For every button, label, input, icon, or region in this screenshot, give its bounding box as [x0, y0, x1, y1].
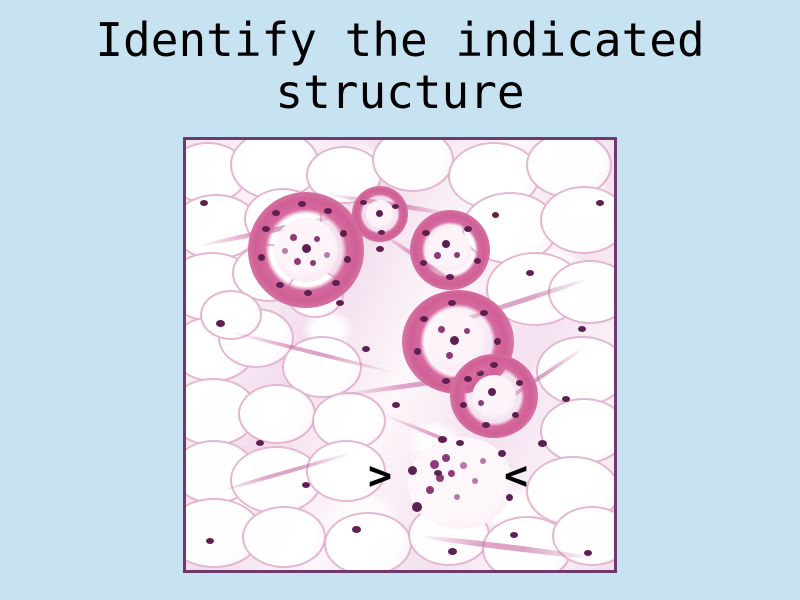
- nucleus: [302, 244, 311, 253]
- left-arrowhead-marker: >: [368, 456, 392, 496]
- nucleus: [488, 388, 496, 396]
- nucleus: [478, 400, 484, 406]
- nucleus: [340, 230, 347, 237]
- nucleus: [344, 256, 351, 263]
- nucleus: [464, 226, 472, 232]
- nucleus: [464, 376, 472, 382]
- slide-canvas: Identify the indicated structure: [0, 0, 800, 600]
- nucleus: [408, 466, 417, 475]
- nucleus: [464, 328, 470, 334]
- adipocyte: [238, 384, 316, 444]
- histology-image: [186, 140, 614, 570]
- nucleus: [446, 352, 453, 359]
- nucleus: [442, 240, 450, 248]
- nucleus: [294, 258, 301, 265]
- nucleus: [376, 246, 384, 252]
- nucleus: [392, 402, 400, 408]
- nucleus: [302, 482, 310, 488]
- nucleus: [272, 210, 280, 216]
- blood-cell: [454, 494, 460, 500]
- adipocyte: [242, 506, 326, 568]
- blood-cell: [448, 470, 455, 477]
- nucleus: [376, 210, 383, 217]
- nucleus: [412, 502, 422, 512]
- right-arrowhead-marker: <: [504, 456, 528, 496]
- nucleus: [360, 200, 367, 205]
- nucleus: [310, 260, 316, 266]
- nucleus: [200, 200, 208, 206]
- nucleus: [414, 348, 421, 355]
- blood-cell: [480, 458, 486, 464]
- nucleus: [262, 226, 270, 232]
- blood-cell: [472, 478, 478, 484]
- nucleus: [256, 440, 264, 446]
- nucleus: [492, 212, 499, 218]
- nucleus: [448, 300, 456, 306]
- nucleus: [450, 336, 459, 345]
- nucleus: [282, 248, 288, 254]
- nucleus: [480, 310, 488, 316]
- nucleus: [422, 230, 430, 236]
- nucleus: [332, 280, 340, 286]
- blood-cell: [460, 462, 467, 469]
- nucleus: [562, 396, 570, 402]
- nucleus: [526, 270, 534, 276]
- nucleus: [474, 258, 481, 264]
- arteriole-small-top: [352, 186, 408, 242]
- nucleus: [290, 234, 297, 241]
- nucleus: [434, 252, 441, 259]
- blood-cell: [426, 486, 434, 494]
- adipocyte: [540, 398, 614, 464]
- adipocyte: [372, 140, 454, 192]
- nucleus: [420, 316, 428, 322]
- nucleus: [352, 526, 361, 533]
- adipocyte: [324, 512, 412, 570]
- nucleus: [442, 378, 450, 384]
- nucleus: [438, 326, 445, 333]
- nucleus: [258, 254, 265, 261]
- nucleus: [510, 532, 518, 538]
- nucleus: [448, 548, 457, 555]
- nucleus: [490, 362, 498, 368]
- nucleus: [512, 412, 519, 418]
- nucleus: [538, 440, 547, 447]
- nucleus: [362, 346, 370, 352]
- nucleus: [324, 208, 332, 214]
- nucleus: [596, 200, 604, 206]
- vessel-lumen: [429, 229, 471, 271]
- nucleus: [456, 440, 464, 446]
- nucleus: [434, 470, 442, 476]
- nucleus: [482, 422, 490, 428]
- nucleus: [392, 204, 399, 209]
- blood-cell: [430, 460, 439, 469]
- vessel-lumen: [408, 437, 512, 529]
- nucleus: [578, 326, 586, 332]
- nucleus: [304, 290, 312, 296]
- nucleus: [314, 236, 320, 242]
- blood-cell: [442, 454, 450, 462]
- nucleus: [298, 201, 306, 207]
- arteriole-mid-right: [410, 210, 490, 290]
- nucleus: [438, 436, 447, 443]
- arteriole-large: [248, 192, 364, 308]
- nucleus: [324, 252, 330, 258]
- nucleus: [454, 252, 460, 258]
- page-title: Identify the indicated structure: [0, 14, 800, 118]
- nucleus: [446, 274, 454, 280]
- nucleus: [336, 300, 344, 306]
- nucleus: [420, 260, 427, 266]
- nucleus: [516, 380, 523, 386]
- nucleus: [216, 320, 225, 327]
- micrograph-frame: [183, 137, 617, 573]
- nucleus: [584, 550, 592, 556]
- arteriole-lower: [450, 354, 538, 438]
- nucleus: [276, 282, 284, 288]
- nucleus: [206, 538, 214, 544]
- nucleus: [494, 338, 501, 345]
- nucleus: [378, 230, 385, 235]
- nucleus: [460, 402, 467, 408]
- vessel-lumen: [472, 375, 516, 419]
